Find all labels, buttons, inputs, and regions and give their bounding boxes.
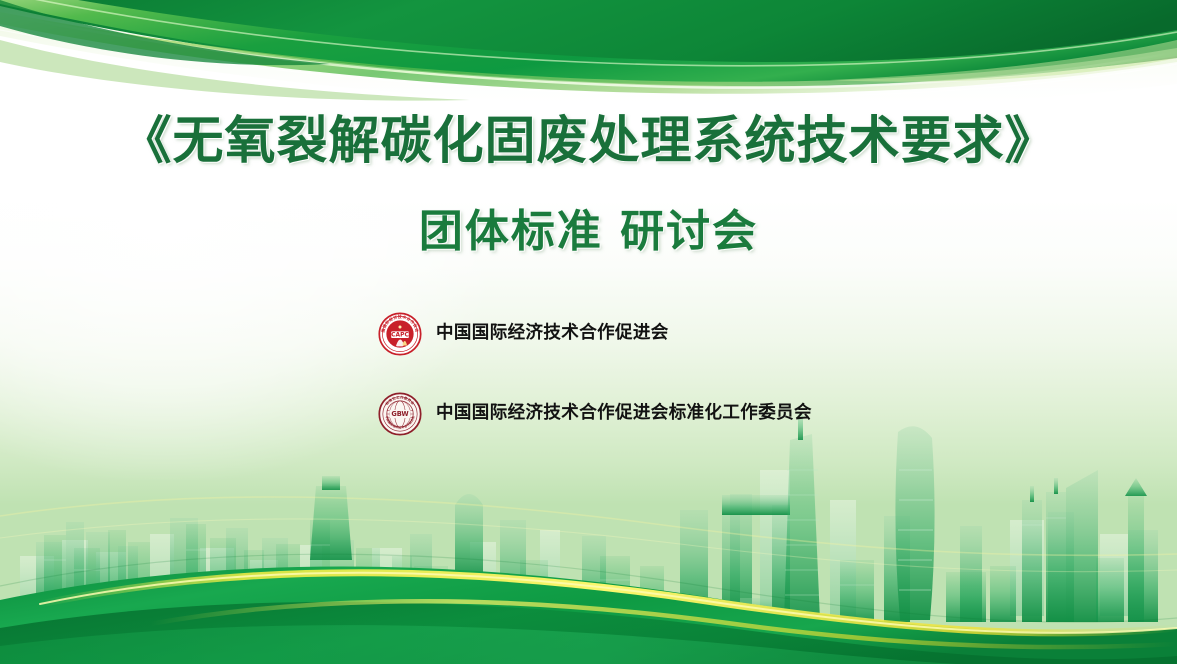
organization-label: 中国国际经济技术合作促进会 (436, 325, 669, 343)
organization-row: 中国国际经济技术合作促进会 CAPC 中国国际经济技术合作促进会 (378, 312, 669, 356)
capc-seal-icon: 中国国际经济技术合作促进会 CAPC (378, 312, 422, 356)
svg-text:GBW: GBW (391, 410, 409, 418)
svg-text:CAPC: CAPC (391, 332, 409, 339)
page-title: 《无氧裂解碳化固废处理系统技术要求》 (0, 112, 1177, 172)
organization-row: 标准化工作委员会 中国国际经济技术合作促进会 GBW 中国国际经济技术合作促进会… (378, 392, 812, 436)
title-slide: 《无氧裂解碳化固废处理系统技术要求》 团体标准 研讨会 中国国际经济技术合作促进… (0, 0, 1177, 664)
organization-label: 中国国际经济技术合作促进会标准化工作委员会 (436, 405, 812, 423)
gbw-seal-icon: 标准化工作委员会 中国国际经济技术合作促进会 GBW (378, 392, 422, 436)
page-subtitle: 团体标准 研讨会 (0, 206, 1177, 259)
